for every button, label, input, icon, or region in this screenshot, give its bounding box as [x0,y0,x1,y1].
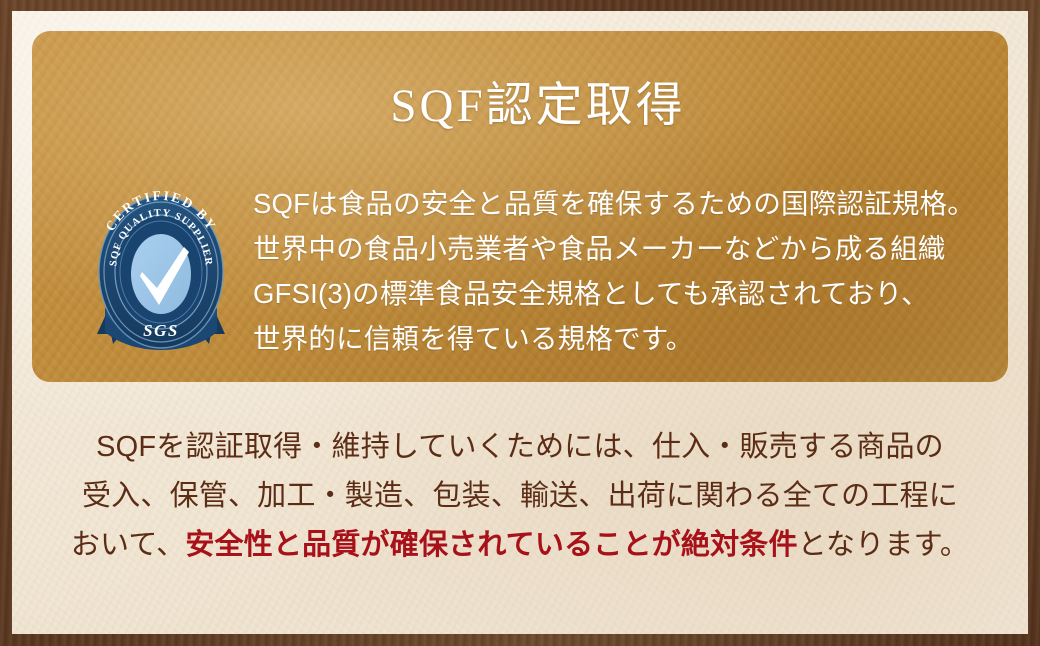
footer-paragraph: SQFを認証取得・維持していくためには、仕入・販売する商品の 受入、保管、加工・… [12,423,1028,570]
footer-line: 受入、保管、加工・製造、包装、輸送、出荷に関わる全ての工程に [12,472,1028,521]
footer-segment: 受入、保管、加工・製造、包装、輸送、出荷に関わる全ての工程に [82,480,958,512]
card-description-line: GFSI(3)の標準食品安全規格としても承認されており、 [253,271,984,316]
paper-background: SQF認定取得 [12,11,1028,634]
footer-segment: となります。 [798,529,969,561]
card-description-line: 世界中の食品小売業者や食品メーカーなどから成る組織 [253,226,984,271]
footer-line: おいて、安全性と品質が確保されていることが絶対条件となります。 [12,521,1028,570]
footer-segment: SQFを認証取得・維持していくためには、仕入・販売する商品の [96,431,944,463]
card-description-line: 世界的に信頼を得ている規格です。 [253,316,984,361]
footer-line: SQFを認証取得・維持していくためには、仕入・販売する商品の [12,423,1028,472]
footer-segment: おいて、 [71,529,185,561]
seal-ribbon-text: SGS [143,321,179,340]
sqf-certification-seal-icon: CERTIFIED BY SQF QUALITY SUPPLIER SGS [85,184,237,369]
card-description: SQFは食品の安全と品質を確保するための国際認証規格。 世界中の食品小売業者や食… [253,181,984,361]
sqf-certification-card: SQF認定取得 [32,31,1008,382]
card-description-line: SQFは食品の安全と品質を確保するための国際認証規格。 [253,181,984,226]
page-title: SQF認定取得 [32,83,1008,130]
footer-segment-emphasis: 安全性と品質が確保されていることが絶対条件 [185,529,797,561]
outer-wood-frame: SQF認定取得 [0,0,1040,646]
